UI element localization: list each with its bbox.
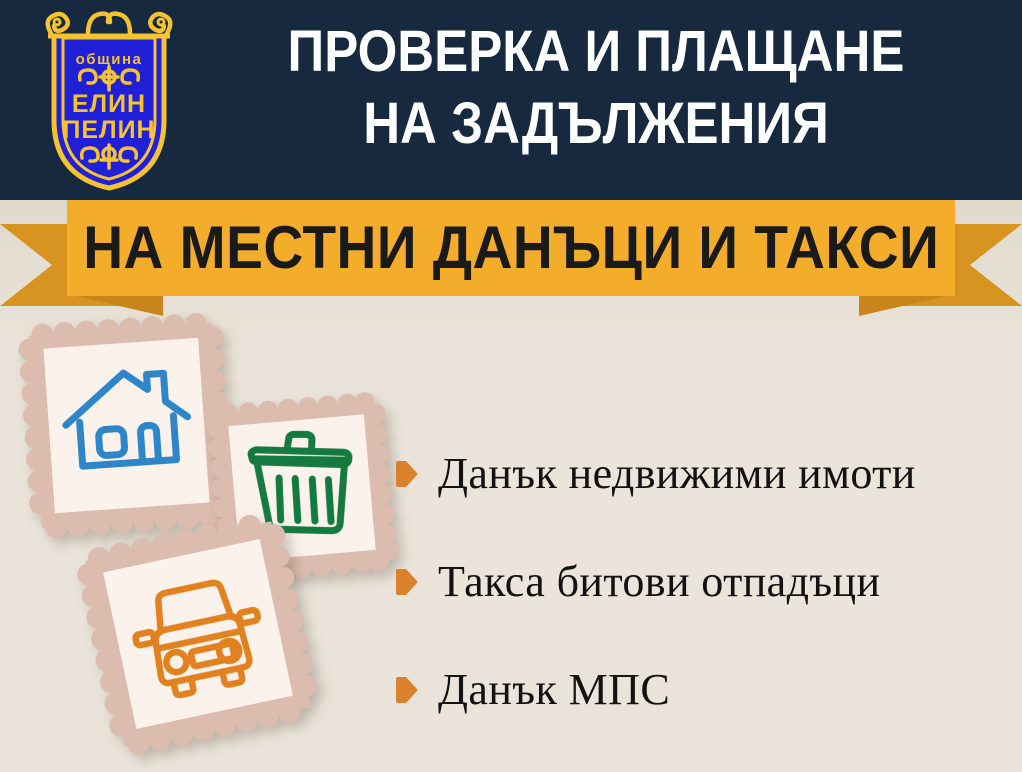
ribbon-band: НА МЕСТНИ ДАНЪЦИ И ТАКСИ <box>67 200 955 296</box>
bullet-arrow-icon <box>396 677 418 703</box>
list-item[interactable]: Данък недвижими имоти <box>396 420 1016 528</box>
bullet-arrow-icon <box>396 461 418 487</box>
page-title: ПРОВЕРКА И ПЛАЩАНЕ НА ЗАДЪЛЖЕНИЯ <box>239 16 954 160</box>
logo-word-pelin: ПЕЛИН <box>62 116 155 144</box>
ribbon-banner: НА МЕСТНИ ДАНЪЦИ И ТАКСИ <box>0 198 1022 318</box>
stamp-shape-vehicle <box>72 508 323 759</box>
stamp-shape-property <box>17 311 236 540</box>
page-title-line-1: ПРОВЕРКА И ПЛАЩАНЕ <box>239 16 954 88</box>
page-title-line-2: НА ЗАДЪЛЖЕНИЯ <box>239 88 954 160</box>
poster-canvas: ПРОВЕРКА И ПЛАЩАНЕ НА ЗАДЪЛЖЕНИЯ община <box>0 0 1022 772</box>
stamp-card-vehicle <box>72 508 323 759</box>
obligations-list: Данък недвижими имоти Такса битови отпад… <box>396 420 1016 744</box>
list-item[interactable]: Такса битови отпадъци <box>396 528 1016 636</box>
list-item[interactable]: Данък МПС <box>396 636 1016 744</box>
ribbon-label: НА МЕСТНИ ДАНЪЦИ И ТАКСИ <box>83 217 939 279</box>
list-item-label: Такса битови отпадъци <box>438 556 880 608</box>
coat-of-arms-icon: община ЕЛИН ПЕЛИН <box>26 8 192 192</box>
logo-word-elin: ЕЛИН <box>72 90 146 118</box>
list-item-label: Данък недвижими имоти <box>438 448 916 500</box>
stamp-card-property <box>17 311 236 540</box>
list-item-label: Данък МПС <box>438 664 670 716</box>
municipality-logo: община ЕЛИН ПЕЛИН <box>26 8 192 192</box>
bullet-arrow-icon <box>396 569 418 595</box>
